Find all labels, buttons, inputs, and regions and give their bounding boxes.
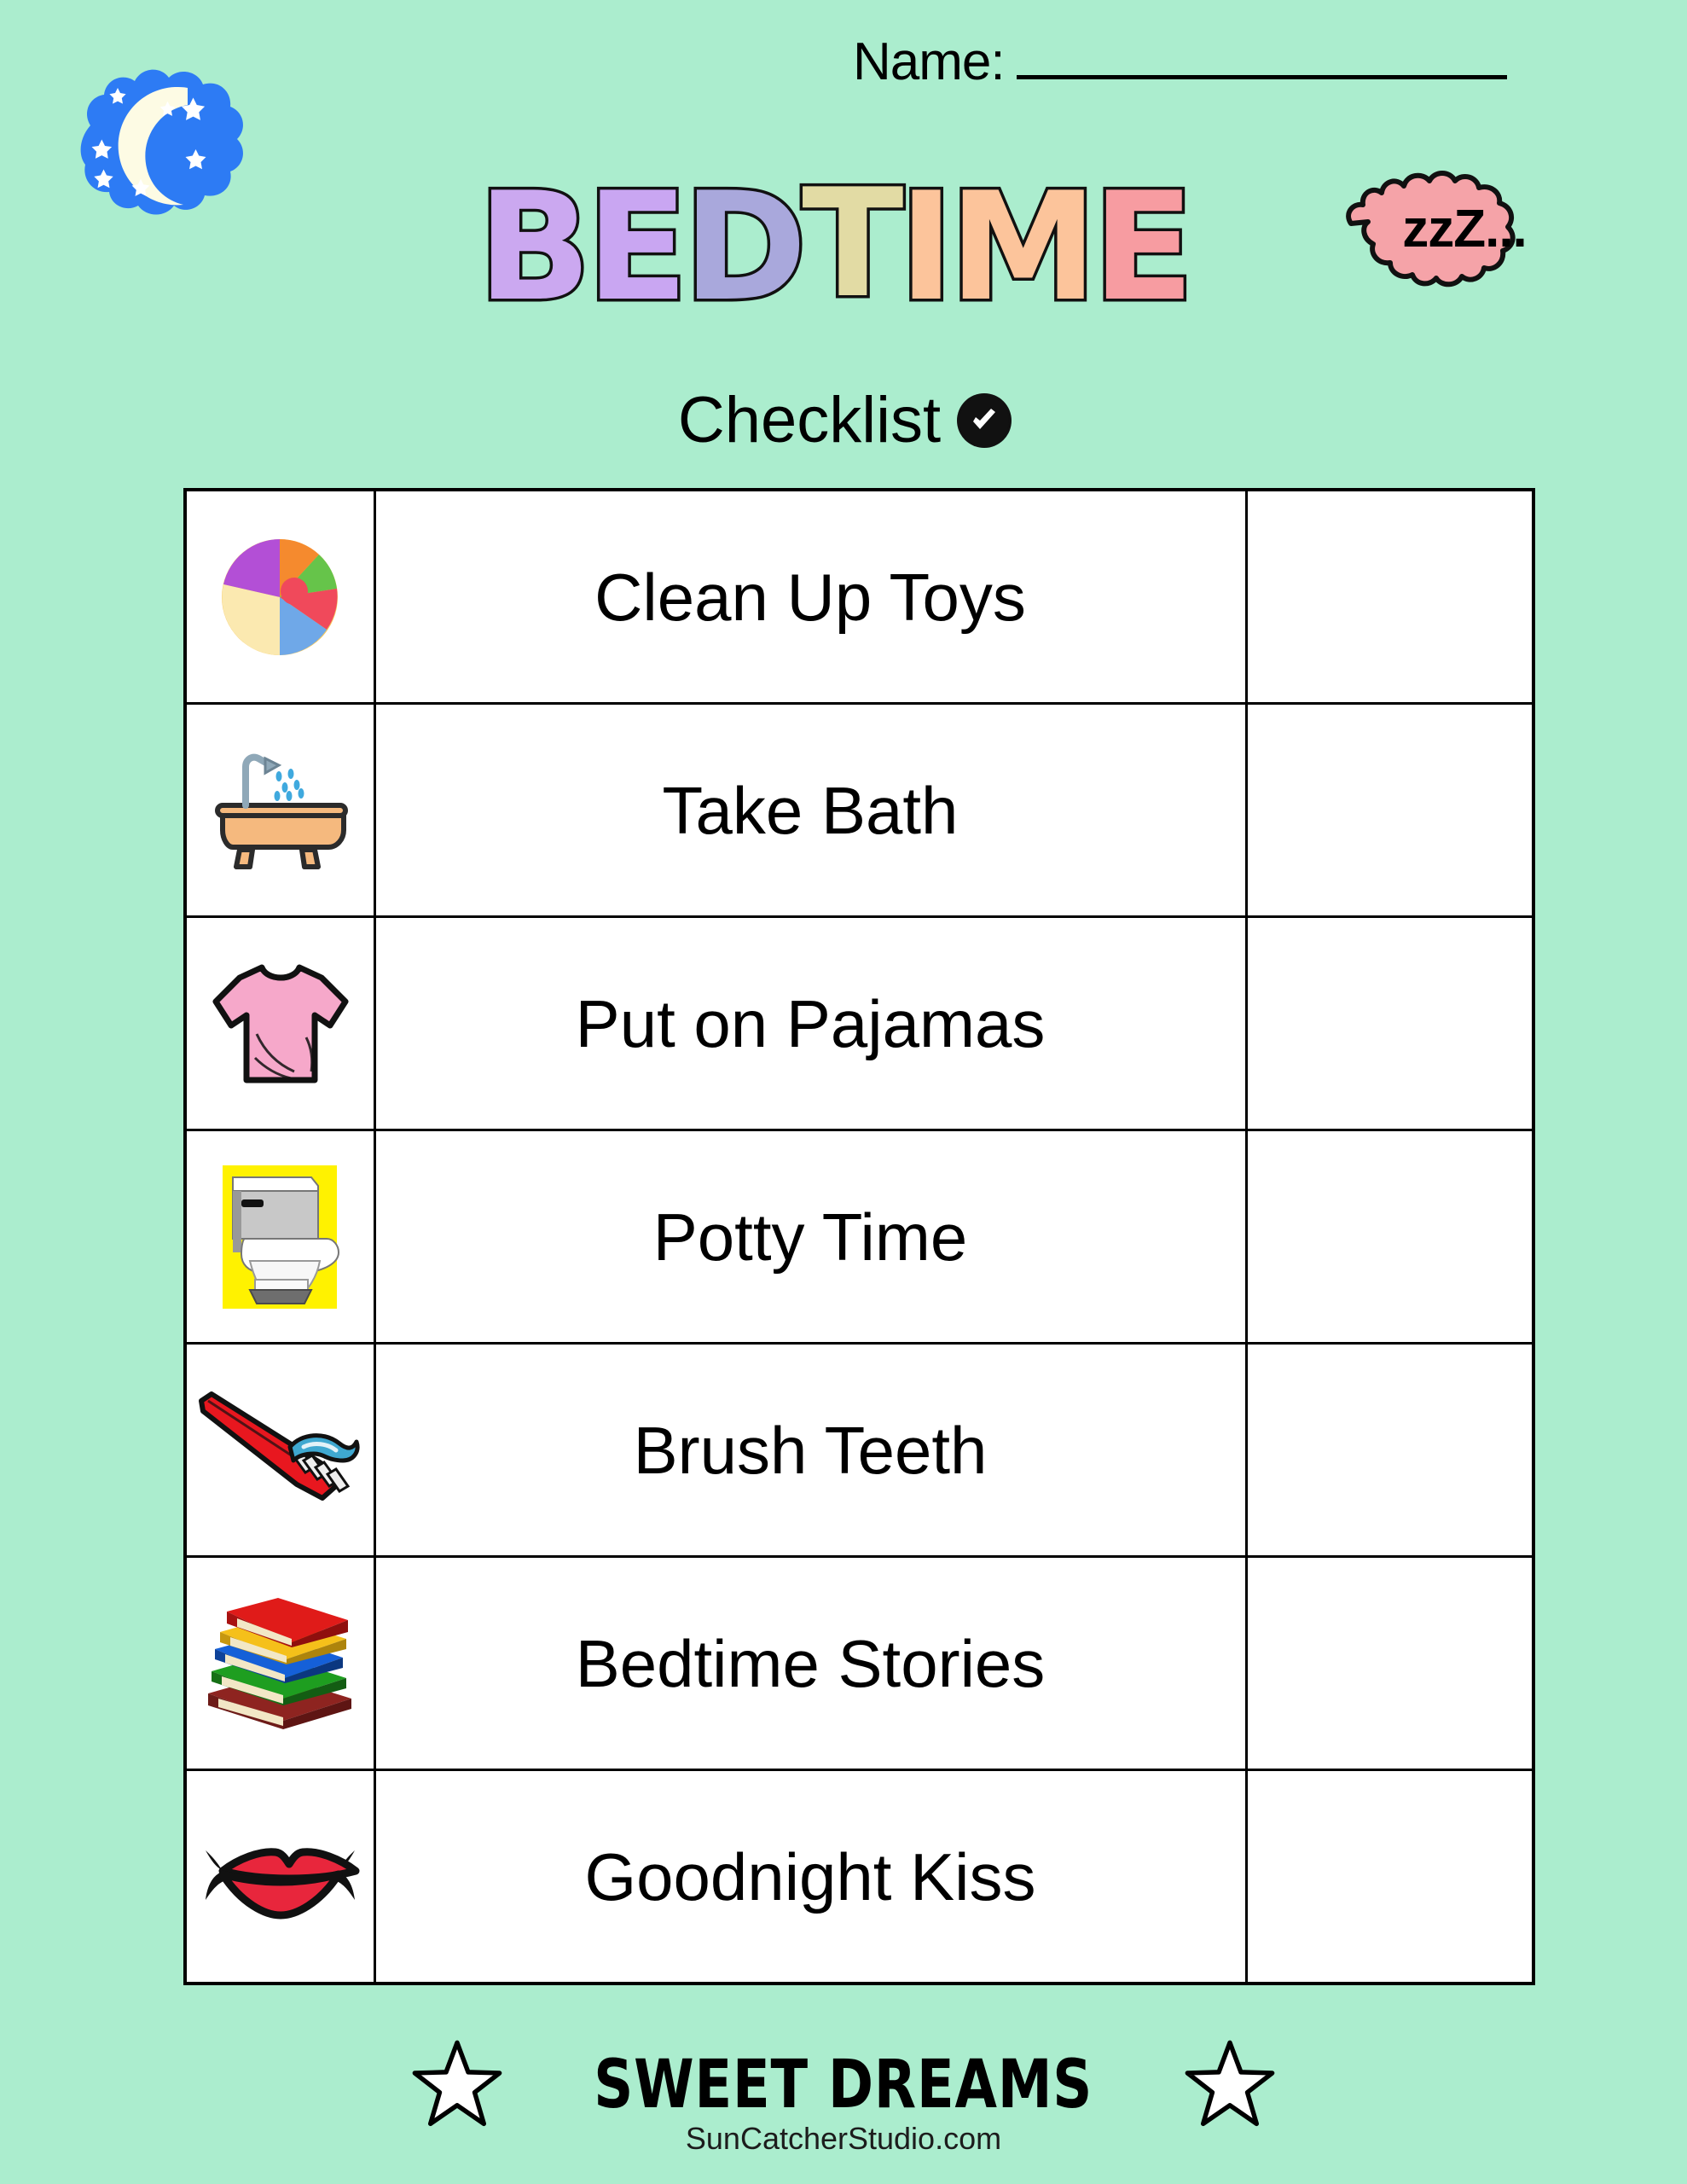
subtitle-row: Checklist [0, 388, 1687, 453]
table-row: Put on Pajamas [185, 917, 1533, 1130]
sleep-cloud-icon: zzZ... [1332, 167, 1597, 295]
bathtub-icon [185, 704, 374, 917]
title-letter: M [949, 177, 1093, 319]
title-letter: D [683, 177, 802, 319]
footer-row: SWEET DREAMS [0, 2039, 1687, 2131]
checkbox-cell[interactable] [1246, 1130, 1533, 1344]
moon-and-stars-icon [41, 47, 297, 252]
task-label: Goodnight Kiss [374, 1770, 1246, 1984]
zzz-label: zzZ... [1332, 167, 1597, 295]
credit-text: SunCatcherStudio.com [0, 2121, 1687, 2157]
table-row: Take Bath [185, 704, 1533, 917]
name-label: Name: [853, 36, 1005, 89]
worksheet-page: Name: B E D T I M E [0, 0, 1687, 2184]
book-stack-icon [185, 1557, 374, 1770]
task-label: Bedtime Stories [374, 1557, 1246, 1770]
lips-icon [185, 1770, 374, 1984]
task-label: Clean Up Toys [374, 490, 1246, 704]
subtitle-text: Checklist [678, 388, 941, 453]
check-circle-icon [959, 396, 1009, 445]
task-label: Take Bath [374, 704, 1246, 917]
tshirt-icon [185, 917, 374, 1130]
footer-text: SWEET DREAMS [594, 2052, 1093, 2118]
checkbox-cell[interactable] [1246, 1557, 1533, 1770]
task-label: Brush Teeth [374, 1344, 1246, 1557]
title-letter: T [802, 174, 898, 316]
name-write-line[interactable] [1017, 75, 1507, 79]
star-icon [1184, 2039, 1276, 2131]
bedtime-checklist-table: Clean Up Toys [183, 488, 1535, 1985]
star-icon [411, 2039, 503, 2131]
table-row: Brush Teeth [185, 1344, 1533, 1557]
checkbox-cell[interactable] [1246, 1344, 1533, 1557]
title-letter: E [1093, 177, 1190, 319]
task-label: Potty Time [374, 1130, 1246, 1344]
checkbox-cell[interactable] [1246, 704, 1533, 917]
page-title: B E D T I M E [478, 177, 1189, 319]
title-letter: E [586, 177, 683, 319]
name-field-row: Name: [853, 36, 1507, 89]
toothbrush-icon [185, 1344, 374, 1557]
toilet-icon [185, 1130, 374, 1344]
table-row: Potty Time [185, 1130, 1533, 1344]
checkbox-cell[interactable] [1246, 1770, 1533, 1984]
table-row: Goodnight Kiss [185, 1770, 1533, 1984]
table-row: Bedtime Stories [185, 1557, 1533, 1770]
title-letter: I [899, 177, 949, 319]
task-label: Put on Pajamas [374, 917, 1246, 1130]
beach-ball-icon [185, 490, 374, 704]
table-row: Clean Up Toys [185, 490, 1533, 704]
checkbox-cell[interactable] [1246, 917, 1533, 1130]
title-letter: B [478, 177, 586, 319]
checkbox-cell[interactable] [1246, 490, 1533, 704]
